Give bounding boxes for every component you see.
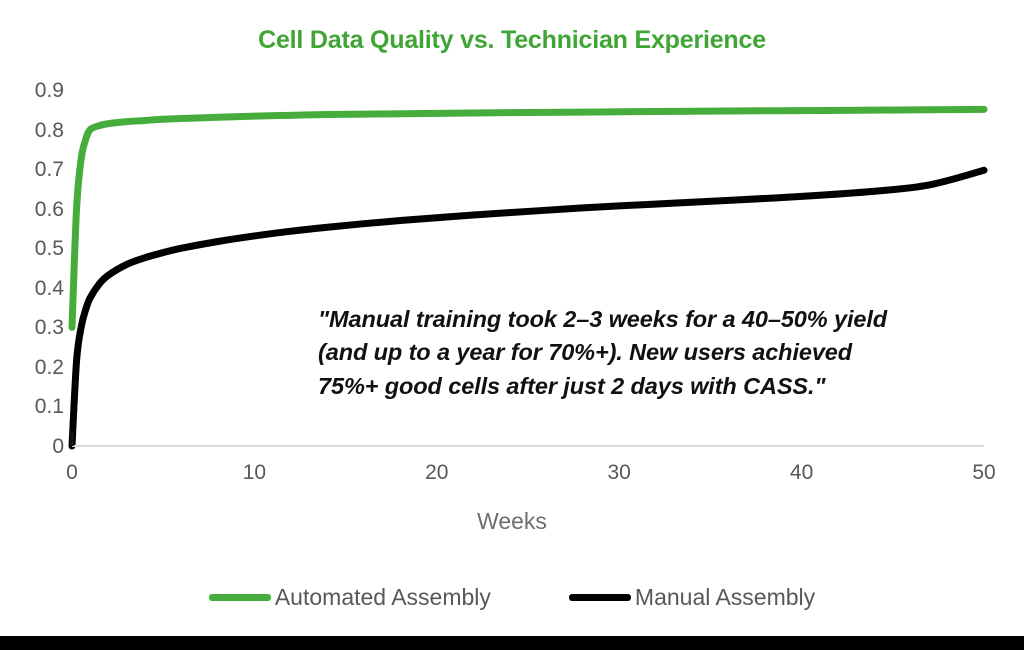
- y-axis-tick-label: 0: [8, 436, 64, 457]
- line-series-automated-assembly: [72, 109, 984, 327]
- x-axis-tick-label: 50: [949, 462, 1019, 483]
- legend-swatch-icon-automated: [209, 594, 271, 601]
- y-axis-tick-labels: 00.10.20.30.40.50.60.70.80.9: [0, 0, 64, 650]
- y-axis-tick-label: 0.3: [8, 317, 64, 338]
- x-axis-tick-label: 30: [584, 462, 654, 483]
- y-axis-tick-label: 0.4: [8, 278, 64, 299]
- y-axis-tick-label: 0.8: [8, 120, 64, 141]
- y-axis-tick-label: 0.5: [8, 238, 64, 259]
- x-axis-tick-label: 40: [767, 462, 837, 483]
- legend-item-automated-assembly[interactable]: Automated Assembly: [209, 586, 491, 609]
- annotation-line-1: "Manual training took 2–3 weeks for a 40…: [318, 303, 998, 336]
- chart-legend: Automated Assembly Manual Assembly: [0, 586, 1024, 609]
- y-axis-tick-label: 0.7: [8, 159, 64, 180]
- y-axis-tick-label: 0.1: [8, 396, 64, 417]
- x-axis-tick-labels: 01020304050: [0, 462, 1024, 494]
- x-axis-title: Weeks: [0, 508, 1024, 535]
- annotation-line-3: 75%+ good cells after just 2 days with C…: [318, 370, 998, 403]
- x-axis-origin-tick: [70, 431, 74, 446]
- y-axis-tick-label: 0.2: [8, 357, 64, 378]
- legend-label-automated: Automated Assembly: [275, 586, 491, 609]
- chart-title: Cell Data Quality vs. Technician Experie…: [0, 26, 1024, 55]
- chart-annotation-quote: "Manual training took 2–3 weeks for a 40…: [318, 303, 998, 403]
- bottom-bar: [0, 636, 1024, 650]
- legend-item-manual-assembly[interactable]: Manual Assembly: [569, 586, 815, 609]
- x-axis-tick-label: 0: [37, 462, 107, 483]
- x-axis-tick-label: 10: [219, 462, 289, 483]
- legend-swatch-icon-manual: [569, 594, 631, 601]
- x-axis-tick-label: 20: [402, 462, 472, 483]
- y-axis-tick-label: 0.6: [8, 199, 64, 220]
- annotation-line-2: (and up to a year for 70%+). New users a…: [318, 336, 998, 369]
- legend-label-manual: Manual Assembly: [635, 586, 815, 609]
- x-axis-line: [72, 445, 984, 447]
- chart-container: Cell Data Quality vs. Technician Experie…: [0, 0, 1024, 650]
- y-axis-tick-label: 0.9: [8, 80, 64, 101]
